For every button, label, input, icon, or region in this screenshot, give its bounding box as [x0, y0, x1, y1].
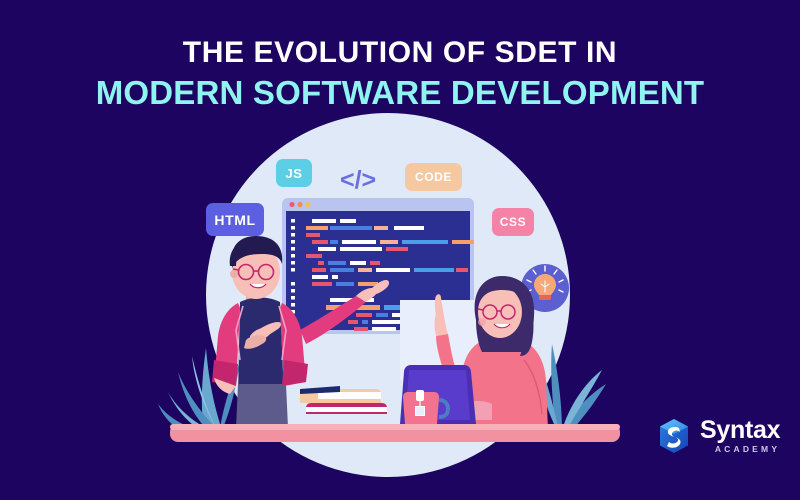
desk-surface — [170, 424, 620, 442]
brand-logo[interactable]: Syntax ACADEMY — [657, 418, 780, 454]
headline-line-1: THE EVOLUTION OF SDET IN — [0, 38, 800, 68]
promotional-banner: THE EVOLUTION OF SDET IN MODERN SOFTWARE… — [0, 0, 800, 500]
tag-code[interactable]: CODE — [405, 163, 462, 191]
tag-js[interactable]: JS — [276, 159, 312, 187]
logo-subtitle: ACADEMY — [700, 445, 780, 454]
editor-dot-close — [289, 202, 294, 207]
headline: THE EVOLUTION OF SDET IN MODERN SOFTWARE… — [0, 38, 800, 109]
book-stack — [300, 386, 387, 414]
editor-dot-maximize — [305, 202, 310, 207]
tag-html[interactable]: HTML — [206, 203, 264, 236]
logo-wordmark: Syntax — [700, 418, 780, 443]
code-brackets-icon: </> — [340, 166, 376, 195]
tag-css[interactable]: CSS — [492, 208, 534, 236]
editor-dot-minimize — [297, 202, 302, 207]
headline-line-2: MODERN SOFTWARE DEVELOPMENT — [0, 76, 800, 109]
logo-text: Syntax ACADEMY — [700, 418, 780, 454]
hexagon-s-icon — [657, 418, 691, 454]
